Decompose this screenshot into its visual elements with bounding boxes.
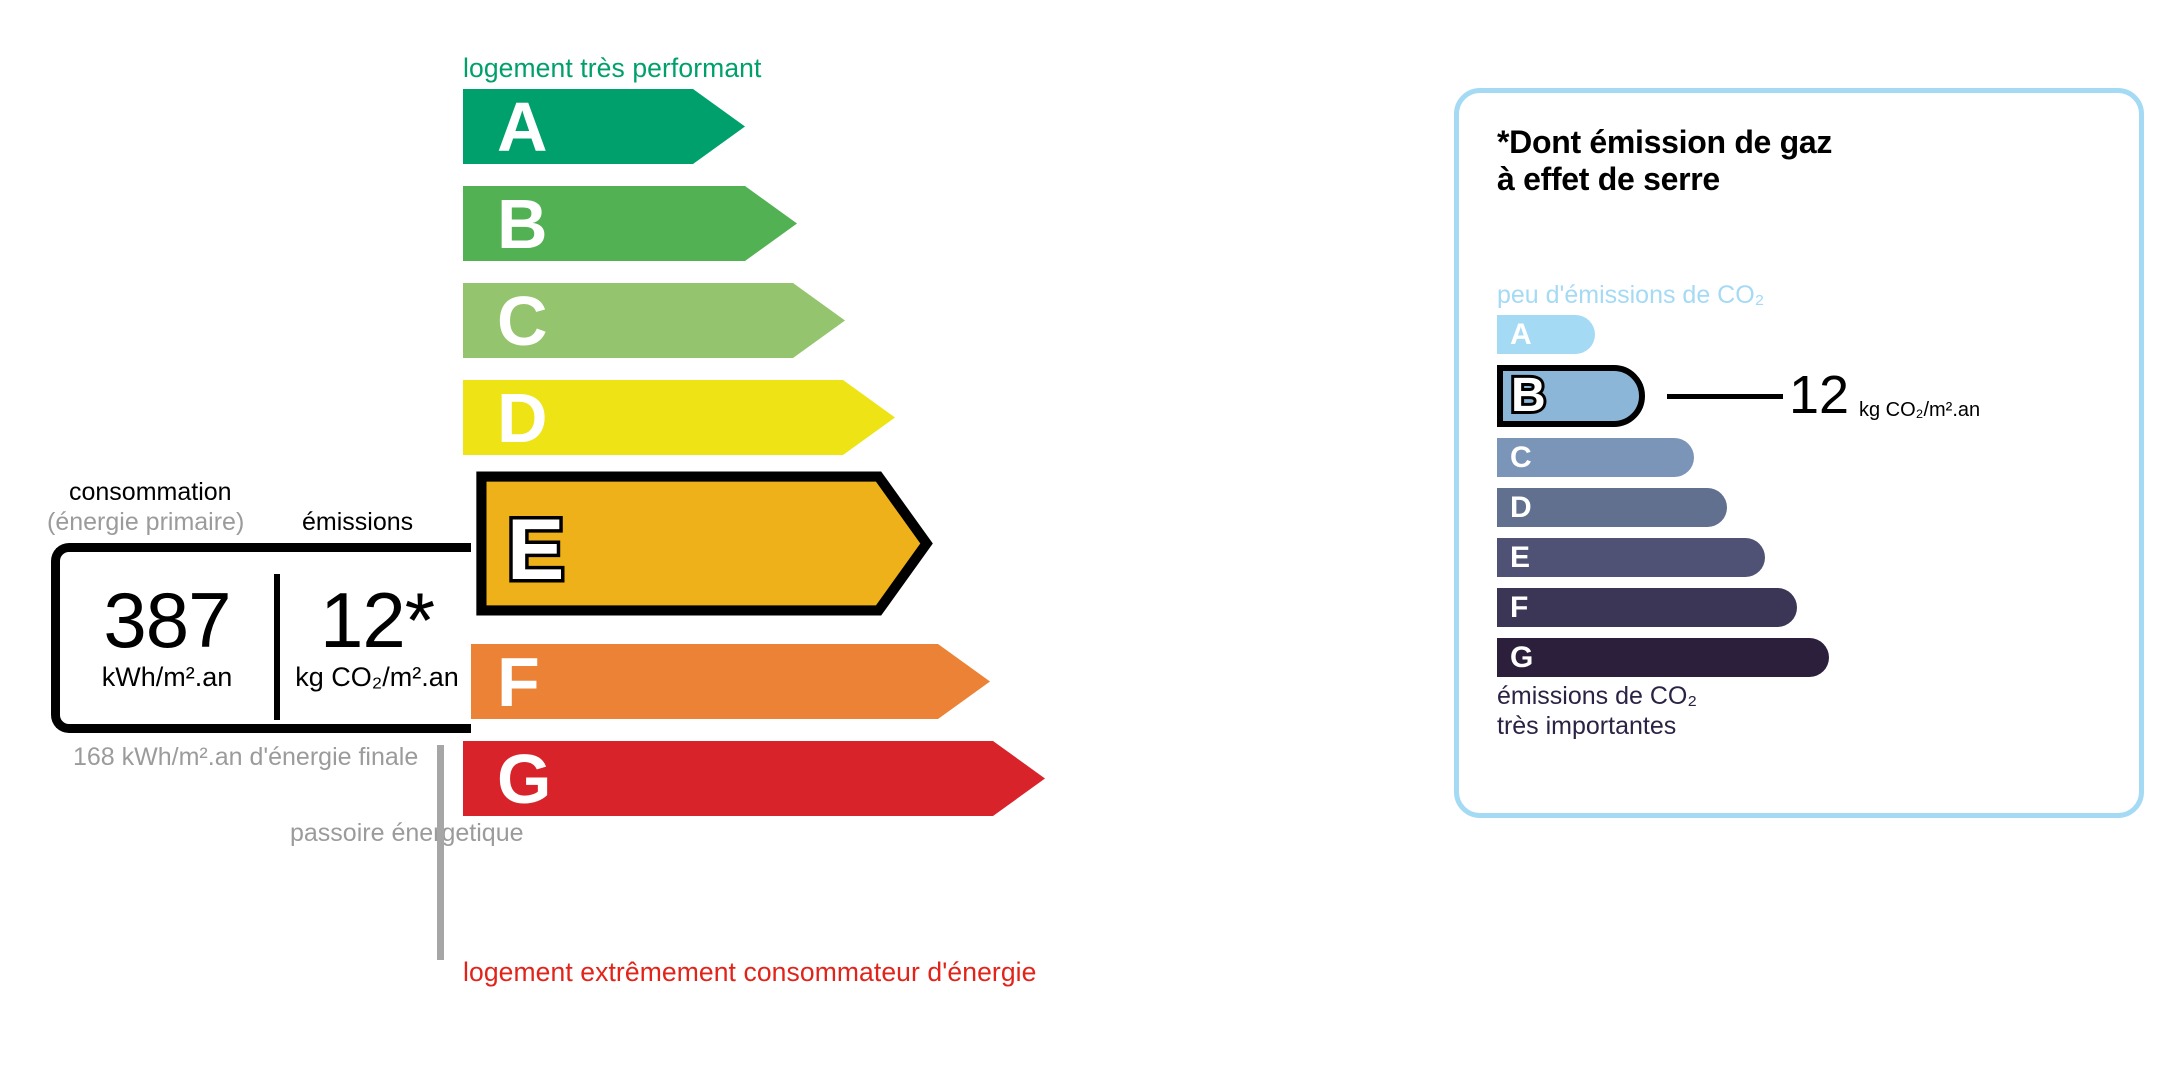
energy-band-letter-b: B xyxy=(497,189,548,259)
co2-bar-f: F xyxy=(1497,588,1797,627)
value-box: 387 kWh/m².an 12* kg CO₂/m².an xyxy=(51,543,471,733)
co2-bar-fill-e xyxy=(1497,538,1765,577)
energy-band-d: D xyxy=(463,380,895,455)
energy-band-letter-g: G xyxy=(497,744,551,814)
energy-bottom-caption: logement extrêmement consommateur d'éner… xyxy=(463,957,1037,988)
consumption-cell: 387 kWh/m².an xyxy=(60,552,274,724)
energy-performance-ladder: logement très performant ABCDEFG consomm… xyxy=(0,0,1400,1079)
consumption-subheader: (énergie primaire) xyxy=(47,508,244,537)
co2-panel: *Dont émission de gaz à effet de serre p… xyxy=(1454,88,2144,818)
consumption-value: 387 xyxy=(103,583,230,657)
co2-bottom-caption: émissions de CO₂ très importantes xyxy=(1497,681,1697,741)
co2-bar-letter-a: A xyxy=(1510,320,1532,350)
co2-bar-e: E xyxy=(1497,538,1765,577)
consumption-unit: kWh/m².an xyxy=(102,662,233,693)
energy-band-letter-f: F xyxy=(497,647,540,717)
co2-bar-fill-g xyxy=(1497,638,1829,677)
co2-bar-letter-c: C xyxy=(1510,443,1532,473)
energy-top-caption: logement très performant xyxy=(463,53,761,84)
passoire-energetique-note: passoire énergetique xyxy=(290,818,476,849)
emissions-header: émissions xyxy=(302,508,413,537)
emissions-value: 12* xyxy=(320,583,434,657)
co2-bar-letter-e: E xyxy=(1510,543,1530,573)
co2-panel-title: *Dont émission de gaz à effet de serre xyxy=(1497,124,1832,198)
co2-bar-letter-f: F xyxy=(1510,593,1528,623)
co2-bar-letter-b: B xyxy=(1511,372,1546,420)
emissions-unit: kg CO₂/m².an xyxy=(295,662,459,693)
co2-bar-g: G xyxy=(1497,638,1829,677)
co2-bar-d: D xyxy=(1497,488,1727,527)
energy-band-e: E xyxy=(463,477,945,622)
energy-band-letter-a: A xyxy=(497,92,548,162)
energy-band-letter-c: C xyxy=(497,286,548,356)
co2-top-caption: peu d'émissions de CO₂ xyxy=(1497,281,1764,310)
dpe-diagram: logement très performant ABCDEFG consomm… xyxy=(0,0,2170,1079)
energy-band-b: B xyxy=(463,186,797,261)
co2-bar-c: C xyxy=(1497,438,1694,477)
co2-bar-b: B xyxy=(1497,365,1645,427)
energy-band-a: A xyxy=(463,89,745,164)
energy-band-letter-d: D xyxy=(497,383,548,453)
passoire-rule-line xyxy=(437,745,444,960)
consumption-header: consommation xyxy=(69,478,232,507)
energy-band-g: G xyxy=(463,741,1045,816)
energy-band-arrow-f xyxy=(463,644,990,719)
energy-band-c: C xyxy=(463,283,845,358)
final-energy-note: 168 kWh/m².an d'énergie finale xyxy=(73,742,418,773)
co2-bar-letter-g: G xyxy=(1510,643,1533,673)
co2-bar-fill-f xyxy=(1497,588,1797,627)
emissions-cell: 12* kg CO₂/m².an xyxy=(282,552,472,724)
energy-band-letter-e: E xyxy=(507,507,564,593)
co2-bar-letter-d: D xyxy=(1510,493,1532,523)
co2-callout-leader-line xyxy=(1667,394,1783,399)
value-box-divider xyxy=(274,574,280,720)
co2-callout-value: 12 xyxy=(1789,368,1849,422)
co2-callout-unit: kg CO₂/m².an xyxy=(1859,400,1980,420)
co2-bar-a: A xyxy=(1497,315,1595,354)
energy-band-f: F xyxy=(463,644,990,719)
